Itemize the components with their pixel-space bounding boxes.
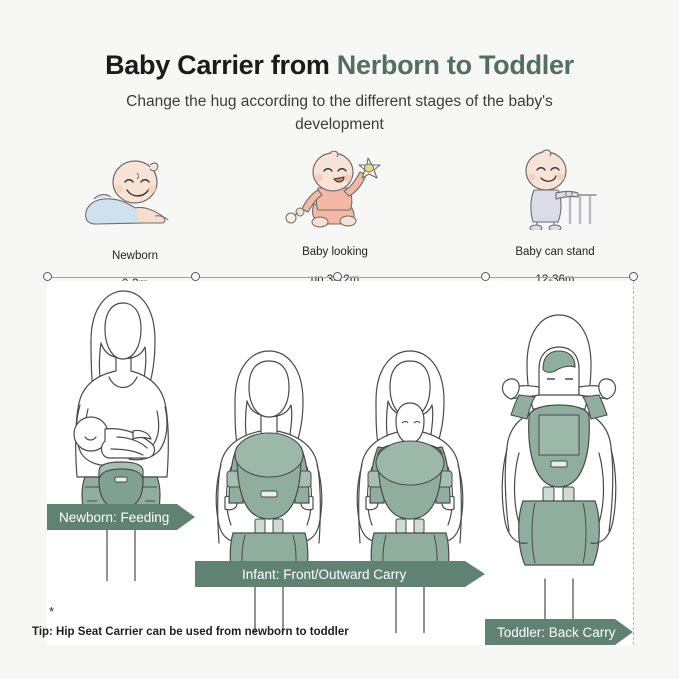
timeline-divider — [633, 281, 634, 645]
banner-toddler-back-carry: Toddler: Back Carry — [485, 619, 633, 645]
crawling-baby-icon — [80, 152, 190, 230]
stage-looking-line1: Baby looking — [302, 246, 368, 258]
toddler-back-carry-panel — [485, 281, 633, 645]
back-carry-illustration — [485, 303, 633, 633]
infographic-root: Baby Carrier from Nerborn to Toddler Cha… — [0, 0, 679, 679]
banner-infant-carry: Infant: Front/Outward Carry — [195, 561, 485, 587]
infant-front-outward-panel — [195, 281, 485, 645]
timeline-marker[interactable] — [191, 272, 200, 281]
newborn-feeding-panel — [47, 281, 195, 645]
stage-stand-line1: Baby can stand — [515, 246, 594, 258]
page-title-accent: Nerborn to Toddler — [337, 50, 574, 80]
banner-newborn-label: Newborn: Feeding — [47, 510, 169, 525]
footnote-asterisk: * — [49, 604, 54, 619]
standing-baby-icon — [500, 148, 610, 226]
stage-newborn: Newborn 0-3m — [45, 152, 225, 291]
page-subtitle: Change the hug according to the differen… — [96, 90, 583, 136]
stage-can-stand-label: Baby can stand 12-36m — [465, 231, 645, 287]
mother-cradling-newborn-illustration — [47, 281, 195, 633]
outward-carry-illustration — [338, 343, 483, 633]
stage-baby-can-stand: Baby can stand 12-36m — [465, 148, 645, 287]
stage-newborn-line1: Newborn — [112, 250, 158, 262]
footnote-text: Tip: Hip Seat Carrier can be used from n… — [32, 626, 349, 638]
stage-baby-looking-up: Baby looking up 3-12m — [245, 148, 425, 287]
timeline-marker[interactable] — [43, 272, 52, 281]
page-title: Baby Carrier from Nerborn to Toddler — [0, 50, 679, 81]
timeline-marker[interactable] — [481, 272, 490, 281]
timeline-marker[interactable] — [629, 272, 638, 281]
page-title-main: Baby Carrier from — [105, 50, 337, 80]
timeline-marker[interactable] — [333, 272, 342, 281]
banner-newborn-feeding: Newborn: Feeding — [47, 504, 195, 530]
front-carry-illustration — [197, 343, 342, 633]
banner-toddler-label: Toddler: Back Carry — [485, 625, 616, 640]
sitting-baby-with-rattle-icon — [280, 148, 390, 226]
banner-infant-label: Infant: Front/Outward Carry — [195, 567, 406, 582]
